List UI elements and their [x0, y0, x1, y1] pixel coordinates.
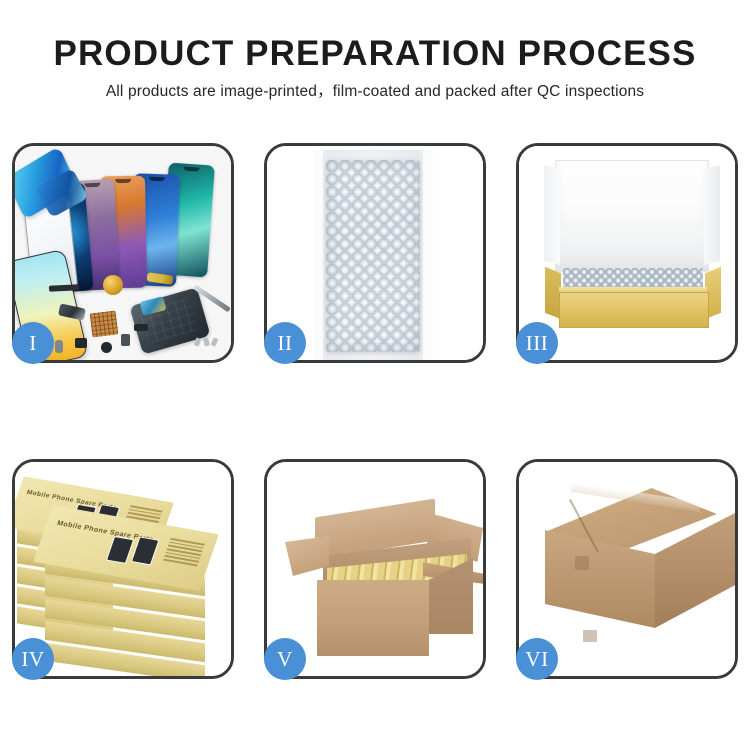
- carton-handle-tab-top: [575, 556, 589, 570]
- mailer-front-panel: [559, 292, 709, 328]
- carton-flap-left: [285, 536, 329, 576]
- sealed-carton-front-face: [545, 530, 655, 628]
- carton-front-face: [317, 580, 429, 656]
- process-step-panel-1: I: [12, 143, 234, 363]
- box-spec-lines-front: [162, 538, 204, 568]
- process-step-panel-4: Mobile Phone Spare Parts Mobile Phone Sp…: [12, 459, 234, 679]
- step-badge-5: V: [264, 638, 306, 680]
- foam-sheet-icon: [563, 198, 699, 268]
- process-step-panel-2: II: [264, 143, 486, 363]
- pouch-seam: [313, 150, 433, 360]
- chip-2-icon: [101, 342, 112, 353]
- chip-3-icon: [121, 334, 130, 346]
- step-badge-6: VI: [516, 638, 558, 680]
- gold-component-icon: [103, 275, 123, 295]
- step-badge-3: III: [516, 322, 558, 364]
- box-thumb-3: [106, 536, 134, 564]
- screws-icon: [195, 338, 219, 346]
- copper-pad-icon: [90, 311, 119, 338]
- process-step-panel-5: V: [264, 459, 486, 679]
- process-steps-grid: I II III: [12, 143, 738, 679]
- process-step-panel-3: III: [516, 143, 738, 363]
- page-subtitle: All products are image-printed，film-coat…: [0, 81, 750, 103]
- page-header: PRODUCT PREPARATION PROCESS All products…: [0, 0, 750, 103]
- process-step-panel-6: VI: [516, 459, 738, 679]
- step-badge-1: I: [12, 322, 54, 364]
- chip-1-icon: [75, 338, 87, 348]
- carton-handle-tab-bottom: [583, 630, 597, 642]
- step-badge-2: II: [264, 322, 306, 364]
- chip-4-icon: [55, 340, 63, 353]
- page-title: PRODUCT PREPARATION PROCESS: [0, 33, 750, 75]
- step-badge-4: IV: [12, 638, 54, 680]
- chip-5-icon: [134, 324, 148, 331]
